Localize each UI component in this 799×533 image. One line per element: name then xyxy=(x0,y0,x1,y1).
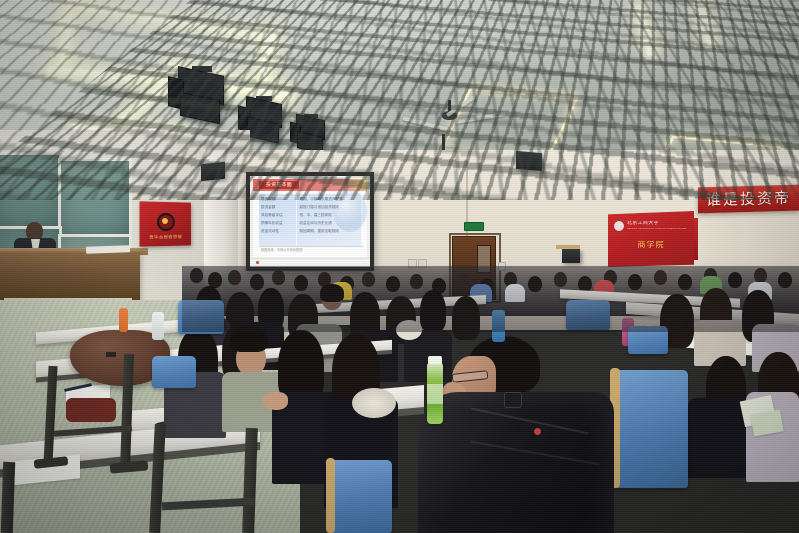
audience-head xyxy=(728,272,742,288)
auditorium-chair xyxy=(566,300,610,330)
university-logo-icon xyxy=(614,221,624,231)
green-bottle-cap xyxy=(428,356,442,364)
desk-leg xyxy=(1,462,15,533)
auditorium-chair xyxy=(614,370,688,488)
auditorium-chair xyxy=(152,356,196,388)
audience-hair xyxy=(320,284,344,302)
green-bottle-label xyxy=(427,384,443,404)
university-banner: 北京工商大学 BEIJING TECHNOLOGY AND BUSINESS U… xyxy=(608,211,694,267)
slide-row-value: 赎回周期、提前支取规则 xyxy=(299,228,359,236)
foreground-man-logo-icon xyxy=(534,428,541,435)
audience-hair xyxy=(420,290,446,332)
bag-under-desk xyxy=(66,398,116,422)
slide-row-value: 短期、中期与长期资产配置 xyxy=(299,196,359,204)
screen-indicator-dot xyxy=(256,261,259,264)
presentation-slide: 投资基本面 投资期限 投资金额 风险等级评估 预期年化收益 资金流动性 短期、中… xyxy=(253,179,367,257)
left-wall-flag: 青年志愿者协会 xyxy=(140,201,191,246)
chair-edge-trim xyxy=(326,458,335,533)
audience-head xyxy=(528,276,542,292)
fur-collar xyxy=(352,388,396,418)
audience-head xyxy=(456,274,469,289)
chalkboard xyxy=(58,158,132,238)
audience-head xyxy=(250,274,264,290)
university-name: 北京工商大学 xyxy=(627,221,685,227)
slide-title-text: 投资基本面 xyxy=(259,181,299,189)
chalkboard xyxy=(0,152,62,230)
coat-label-tag xyxy=(106,352,116,357)
slide-row-value: 低、中、高三档风险 xyxy=(299,212,359,220)
audience-head xyxy=(272,270,285,285)
audience-head xyxy=(228,270,241,285)
audience-head xyxy=(678,274,692,290)
water-bottle xyxy=(492,310,505,342)
slide-row-label: 资金流动性 xyxy=(261,228,294,236)
wall-speaker xyxy=(516,151,542,171)
audience-garment xyxy=(505,284,525,302)
projection-screen[interactable]: 投资基本面 投资期限 投资金额 风险等级评估 预期年化收益 资金流动性 短期、中… xyxy=(250,176,370,266)
slide-row-value: 收益区间与历史业绩 xyxy=(299,220,359,228)
exit-sign xyxy=(464,222,484,231)
audience-head xyxy=(754,268,767,283)
audience-head xyxy=(554,272,567,287)
student-hand xyxy=(262,392,288,410)
beverage-bottle xyxy=(119,308,128,332)
coat-hook-rail xyxy=(556,245,580,249)
audience-head xyxy=(386,276,400,292)
wall-slogan-text: 谁是投资帝 xyxy=(698,191,791,209)
audience-head xyxy=(410,274,423,289)
auditorium-chair xyxy=(628,326,668,354)
wall-speaker xyxy=(562,249,580,263)
stage-spotlight xyxy=(168,66,230,128)
slide-row-label: 预期年化收益 xyxy=(261,220,294,228)
slide-footer-note: 数据来源：市场公开资料整理 xyxy=(259,246,363,254)
foreground-man-wristwatch xyxy=(504,392,522,408)
slide-table-right-column: 短期、中期与长期资产配置 起投门槛与追加投资规则 低、中、高三档风险 收益区间与… xyxy=(297,194,361,246)
lecture-hall-photo: 投资基本面 投资期限 投资金额 风险等级评估 预期年化收益 资金流动性 短期、中… xyxy=(0,0,799,533)
university-subtitle: BEIJING TECHNOLOGY AND BUSINESS UNIVERSI… xyxy=(627,228,687,231)
audience-head xyxy=(190,268,203,283)
wall-speaker xyxy=(201,162,225,182)
slide-row-label: 投资金额 xyxy=(261,204,294,212)
wall-slogan-banner: 谁是投资帝 xyxy=(698,185,799,214)
audience-head xyxy=(778,272,792,288)
auditorium-chair xyxy=(330,460,392,533)
audience-hair xyxy=(452,296,480,340)
slide-row-label: 风险等级评估 xyxy=(261,212,294,220)
flag-text: 青年志愿者协会 xyxy=(140,234,191,239)
water-bottle xyxy=(152,312,164,340)
podium xyxy=(0,252,140,300)
audience-hair xyxy=(230,326,268,352)
audience-head xyxy=(628,274,642,290)
audience-head xyxy=(294,275,308,291)
slide-table-left-column: 投资期限 投资金额 风险等级评估 预期年化收益 资金流动性 xyxy=(259,194,297,246)
audience-scarf xyxy=(396,320,422,340)
audience-head xyxy=(654,270,667,285)
flag-emblem-icon xyxy=(157,213,175,231)
auditorium-chair xyxy=(178,300,224,334)
audience-head xyxy=(362,272,375,287)
university-department: 商学院 xyxy=(608,241,694,249)
slide-row-label: 投资期限 xyxy=(261,196,294,204)
slide-content-table: 投资期限 投资金额 风险等级评估 预期年化收益 资金流动性 短期、中期与长期资产… xyxy=(259,194,361,246)
slide-row-value: 起投门槛与追加投资规则 xyxy=(299,204,359,212)
